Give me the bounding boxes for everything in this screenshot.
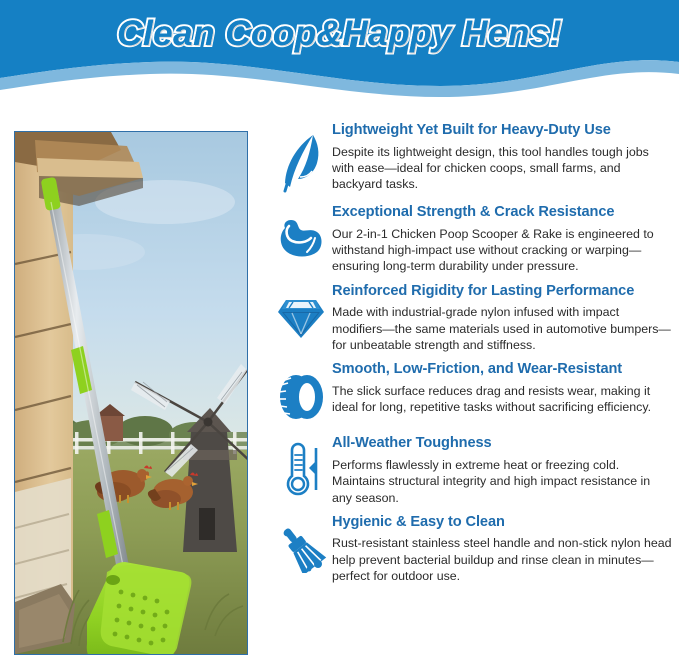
feature-item: Smooth, Low-Friction, and Wear-Resistant… xyxy=(272,361,672,427)
feature-item: Reinforced Rigidity for Lasting Performa… xyxy=(272,283,672,354)
feature-body: Rust-resistant stainless steel handle an… xyxy=(332,535,672,584)
feature-body: Performs flawlessly in extreme heat or f… xyxy=(332,457,672,506)
feature-body: Our 2-in-1 Chicken Poop Scooper & Rake i… xyxy=(332,226,672,275)
feature-body: Despite its lightweight design, this too… xyxy=(332,144,672,193)
product-photo-illustration xyxy=(15,132,247,654)
feature-title: Lightweight Yet Built for Heavy-Duty Use xyxy=(332,122,672,140)
header-banner: Clean Coop&Happy Hens! Clean Coop&Happy … xyxy=(0,0,679,97)
feature-body: Made with industrial-grade nylon infused… xyxy=(332,304,672,353)
diamond-icon xyxy=(272,283,330,345)
broom-icon xyxy=(272,514,330,576)
feature-item: Exceptional Strength & Crack Resistance … xyxy=(272,204,672,275)
feature-item: Lightweight Yet Built for Heavy-Duty Use… xyxy=(272,122,672,196)
feature-title: Hygienic & Easy to Clean xyxy=(332,514,672,532)
flexed-bicep-icon xyxy=(272,204,330,266)
page-title-fill: Clean Coop&Happy Hens! xyxy=(0,14,679,54)
feature-item: All-Weather Toughness Performs flawlessl… xyxy=(272,435,672,506)
feature-title: Reinforced Rigidity for Lasting Performa… xyxy=(332,283,672,301)
feature-item: Hygienic & Easy to Clean Rust-resistant … xyxy=(272,514,672,585)
tire-icon xyxy=(272,361,330,427)
feature-list: Lightweight Yet Built for Heavy-Duty Use… xyxy=(272,122,672,593)
feature-title: Smooth, Low-Friction, and Wear-Resistant xyxy=(332,361,672,379)
feature-body: The slick surface reduces drag and resis… xyxy=(332,383,672,416)
feature-title: All-Weather Toughness xyxy=(332,435,672,453)
thermometer-icon xyxy=(272,435,330,497)
feather-icon xyxy=(272,122,330,196)
product-photo xyxy=(14,131,248,655)
feature-title: Exceptional Strength & Crack Resistance xyxy=(332,204,672,222)
